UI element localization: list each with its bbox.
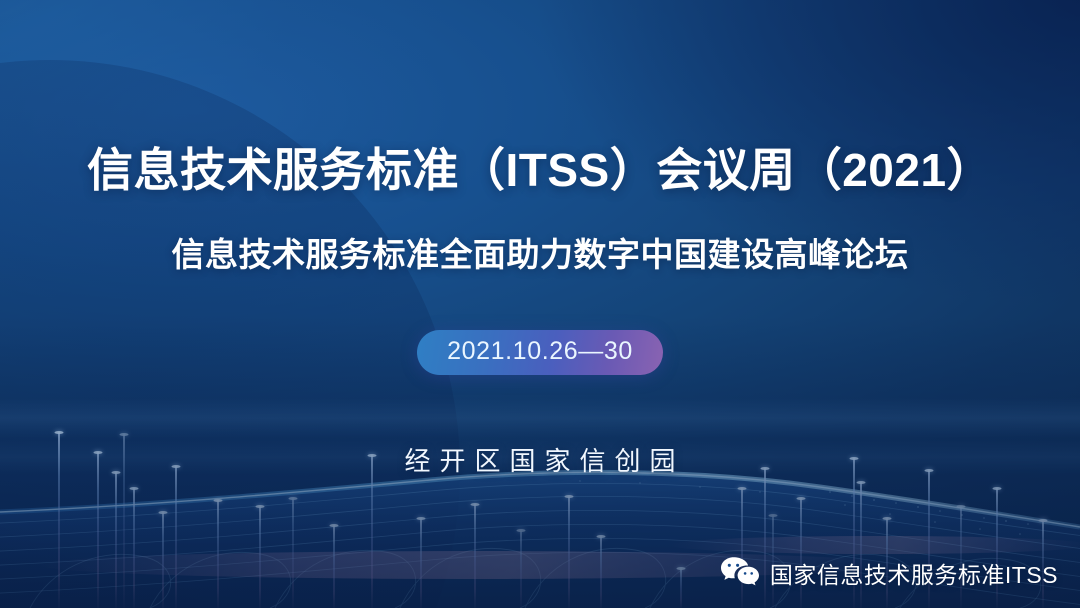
wechat-icon (720, 556, 760, 590)
status-badge: 2021.10.26—30 (417, 330, 663, 375)
venue-label: 经开区国家信创园 (0, 441, 1080, 478)
wechat-watermark: 国家信息技术服务标准ITSS (720, 556, 1058, 590)
conference-poster: 信息技术服务标准（ITSS）会议周（2021） 信息技术服务标准全面助力数字中国… (0, 0, 1080, 608)
watermark-label: 国家信息技术服务标准ITSS (770, 556, 1058, 590)
poster-content: 信息技术服务标准（ITSS）会议周（2021） 信息技术服务标准全面助力数字中国… (0, 0, 1080, 608)
date-badge-container: 2021.10.26—30 (0, 330, 1080, 375)
page-subtitle: 信息技术服务标准全面助力数字中国建设高峰论坛 (0, 228, 1080, 276)
page-title: 信息技术服务标准（ITSS）会议周（2021） (0, 145, 1080, 196)
